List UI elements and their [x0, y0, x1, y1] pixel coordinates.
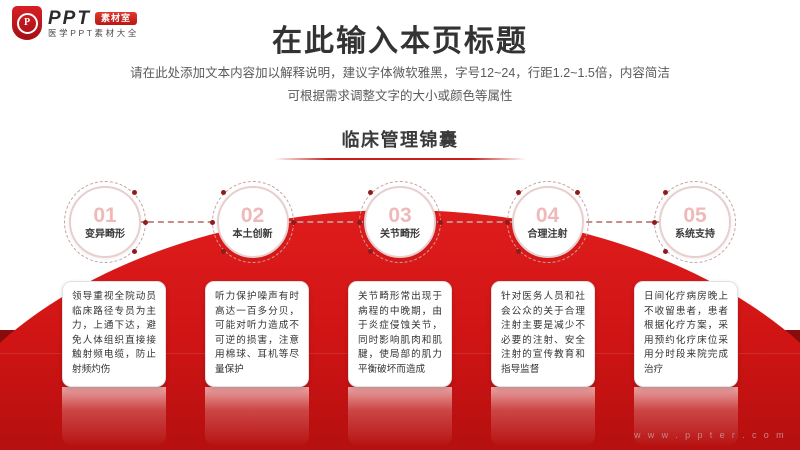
node-inner-circle: 03 关节畸形: [364, 186, 436, 258]
node-dot-top-right: [575, 190, 580, 195]
content-card[interactable]: 关节畸形常出现于病程的中晚期，由于炎症侵蚀关节，同时影响肌肉和肌腱，使局部的肌力…: [348, 281, 452, 387]
node-label: 关节畸形: [380, 230, 420, 240]
node-02[interactable]: 02 本土创新: [212, 181, 294, 263]
node-dot-left: [505, 220, 510, 225]
node-inner-circle: 01 变异畸形: [69, 186, 141, 258]
node-number: 01: [93, 205, 116, 226]
node-05[interactable]: 05 系统支持: [654, 181, 736, 263]
node-dot-top-left: [516, 190, 521, 195]
node-label: 系统支持: [675, 230, 715, 240]
node-inner-circle: 05 系统支持: [659, 186, 731, 258]
node-inner-circle: 02 本土创新: [217, 186, 289, 258]
node-dot-bottom-left: [221, 249, 226, 254]
node-number: 02: [241, 205, 264, 226]
node-dot-left: [652, 220, 657, 225]
node-label: 变异畸形: [85, 230, 125, 240]
node-dot-left: [210, 220, 215, 225]
node-dot-right: [291, 220, 296, 225]
node-01[interactable]: 01 变异畸形: [64, 181, 146, 263]
slide-canvas: P PPT 素材室 医学PPT素材大全 在此输入本页标题 请在此处添加文本内容加…: [0, 0, 800, 450]
node-dot-top-right: [132, 190, 137, 195]
content-card[interactable]: 针对医务人员和社会公众的关于合理注射主要是减少不必要的注射、安全注射的宣传教育和…: [491, 281, 595, 387]
node-dot-right: [143, 220, 148, 225]
node-dot-left: [357, 220, 362, 225]
card-row: 领导重视全院动员临床路径专员为主力，上通下达，避免人体组织直接接触射频电缆，防止…: [0, 281, 800, 387]
node-dot-top-left: [663, 190, 668, 195]
content-card[interactable]: 听力保护噪声有时高达一百多分贝，可能对听力造成不可逆的损害，注意用棉球、耳机等尽…: [205, 281, 309, 387]
content-card[interactable]: 领导重视全院动员临床路径专员为主力，上通下达，避免人体组织直接接触射频电缆，防止…: [62, 281, 166, 387]
node-label: 合理注射: [528, 230, 568, 240]
node-dot-right: [438, 220, 443, 225]
section-title: 临床管理锦囊: [342, 126, 459, 158]
footer-watermark: w w w . p p t e r . c o m: [634, 430, 786, 440]
section-heading-block: 临床管理锦囊: [0, 126, 800, 160]
node-dot-bottom-right: [132, 249, 137, 254]
node-dot-bottom-left: [516, 249, 521, 254]
page-title: 在此输入本页标题: [0, 16, 800, 60]
node-03[interactable]: 03 关节畸形: [359, 181, 441, 263]
node-label: 本土创新: [233, 230, 273, 240]
node-inner-circle: 04 合理注射: [512, 186, 584, 258]
node-number: 05: [683, 205, 706, 226]
node-number: 03: [388, 205, 411, 226]
node-dot-top-left: [221, 190, 226, 195]
page-subtitle: 请在此处添加文本内容加以解释说明，建议字体微软雅黑，字号12~24，行距1.2~…: [0, 62, 800, 108]
node-dot-bottom-left: [663, 249, 668, 254]
node-number: 04: [536, 205, 559, 226]
node-dot-bottom-left: [368, 249, 373, 254]
node-dot-top-left: [368, 190, 373, 195]
section-underline: [274, 158, 526, 160]
node-04[interactable]: 04 合理注射: [507, 181, 589, 263]
content-card[interactable]: 日间化疗病房晚上不收留患者，患者根据化疗方案，采用预约化疗床位采用分时段来院完成…: [634, 281, 738, 387]
subtitle-line-1: 请在此处添加文本内容加以解释说明，建议字体微软雅黑，字号12~24，行距1.2~…: [0, 62, 800, 85]
node-row: 01 变异畸形 02 本土创新 03 关节畸形: [0, 181, 800, 263]
subtitle-line-2: 可根据需求调整文字的大小或颜色等属性: [0, 85, 800, 108]
